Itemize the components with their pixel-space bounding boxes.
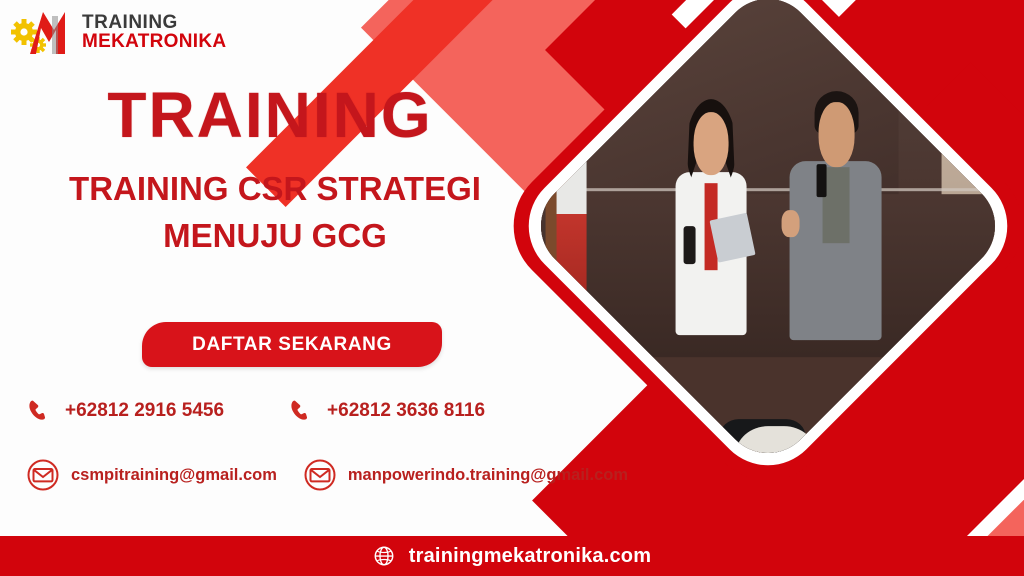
email-contact-item[interactable]: manpowerindo.training@gmail.com (303, 458, 628, 492)
phone-contact-item[interactable]: +62812 2916 5456 (26, 398, 224, 424)
logo-text-training: TRAINING (82, 13, 226, 32)
logo-text-mekatronika: MEKATRONIKA (82, 32, 226, 51)
phone-contact-list: +62812 2916 5456 +62812 3636 8116 (26, 398, 485, 424)
brand-logo[interactable]: TRAINING MEKATRONIKA (8, 4, 226, 60)
footer-bar: trainingmekatronika.com (0, 536, 1024, 576)
course-title-line-2: MENUJU GCG (20, 213, 530, 260)
phone-contact-item[interactable]: +62812 3636 8116 (288, 398, 485, 424)
promo-banner: TRAINING MEKATRONIKA TRAINING TRAINING C… (0, 0, 1024, 576)
phone-number: +62812 3636 8116 (327, 400, 485, 422)
course-title-line-1: TRAINING CSR STRATEGI (20, 166, 530, 213)
envelope-circle-icon (26, 458, 60, 492)
phone-number: +62812 2916 5456 (65, 400, 224, 422)
course-title: TRAINING CSR STRATEGI MENUJU GCG (20, 166, 530, 260)
phone-icon (288, 398, 314, 424)
email-address: manpowerindo.training@gmail.com (348, 466, 628, 485)
email-address: csmpitraining@gmail.com (71, 466, 277, 485)
email-contact-list: csmpitraining@gmail.com manpowerindo.tra… (26, 458, 628, 492)
envelope-circle-icon (303, 458, 337, 492)
website-url[interactable]: trainingmekatronika.com (409, 545, 651, 568)
gear-m-logo-icon (8, 6, 78, 58)
globe-icon (373, 545, 395, 567)
phone-icon (26, 398, 52, 424)
email-contact-item[interactable]: csmpitraining@gmail.com (26, 458, 277, 492)
register-now-button[interactable]: DAFTAR SEKARANG (142, 322, 442, 367)
page-title: TRAINING (0, 78, 540, 152)
